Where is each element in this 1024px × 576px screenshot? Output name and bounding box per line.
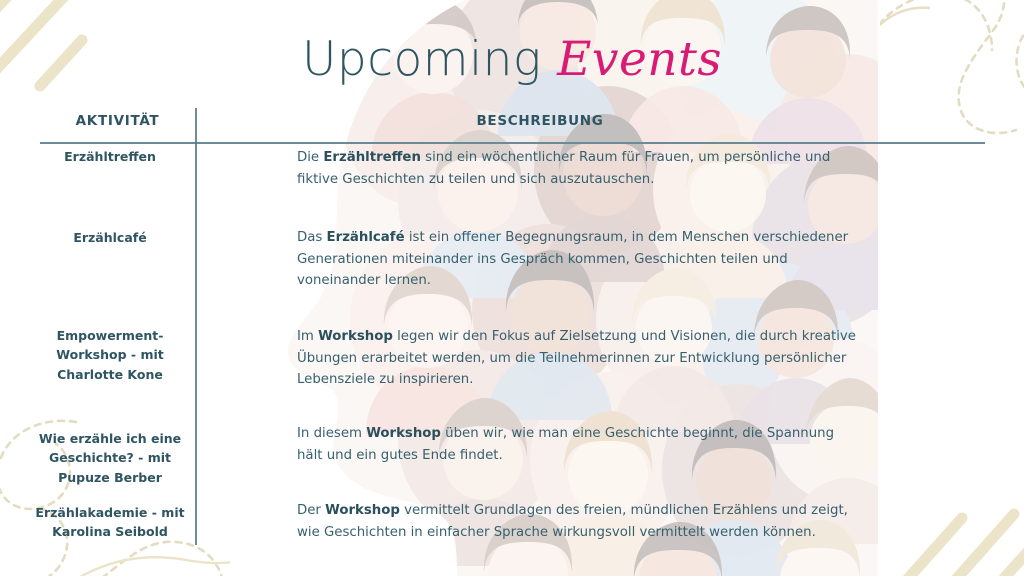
description-highlight: Workshop	[325, 503, 400, 518]
description-highlight: Workshop	[318, 329, 393, 344]
table-row-description: Im Workshop legen wir den Fokus auf Ziel…	[297, 326, 857, 391]
description-lead: Die	[297, 150, 323, 165]
table-row-description: Die Erzähltreffen sind ein wöchentlicher…	[297, 147, 857, 190]
column-header-activity: AKTIVITÄT	[40, 113, 195, 129]
table-row-activity: Erzähltreffen	[30, 147, 190, 166]
table-row-description: Das Erzählcafé ist ein offener Begegnung…	[297, 227, 857, 292]
description-highlight: Workshop	[366, 426, 441, 441]
table-row-description: Der Workshop vermittelt Grundlagen des f…	[297, 500, 857, 543]
description-highlight: Erzählcafé	[327, 230, 405, 245]
description-lead: Das	[297, 230, 327, 245]
table-row-activity: Erzählcafé	[30, 228, 190, 247]
column-header-description: BESCHREIBUNG	[240, 113, 840, 129]
events-table: AKTIVITÄT BESCHREIBUNG Erzähltreffen Die…	[0, 0, 1024, 576]
table-row-activity: Erzählakademie - mit Karolina Seibold	[30, 503, 190, 542]
description-lead: Der	[297, 503, 325, 518]
description-lead: In diesem	[297, 426, 366, 441]
table-row-activity: Wie erzähle ich eine Geschichte? - mit P…	[30, 429, 190, 487]
table-row-activity: Empowerment-Workshop - mit Charlotte Kon…	[30, 326, 190, 384]
header-horizontal-rule	[40, 142, 985, 144]
slide-canvas: Upcoming Events AKTIVITÄT BESCHREIBUNG E…	[0, 0, 1024, 576]
column-vertical-divider	[195, 108, 197, 545]
description-lead: Im	[297, 329, 318, 344]
description-highlight: Erzähltreffen	[323, 150, 421, 165]
table-row-description: In diesem Workshop üben wir, wie man ein…	[297, 423, 857, 466]
